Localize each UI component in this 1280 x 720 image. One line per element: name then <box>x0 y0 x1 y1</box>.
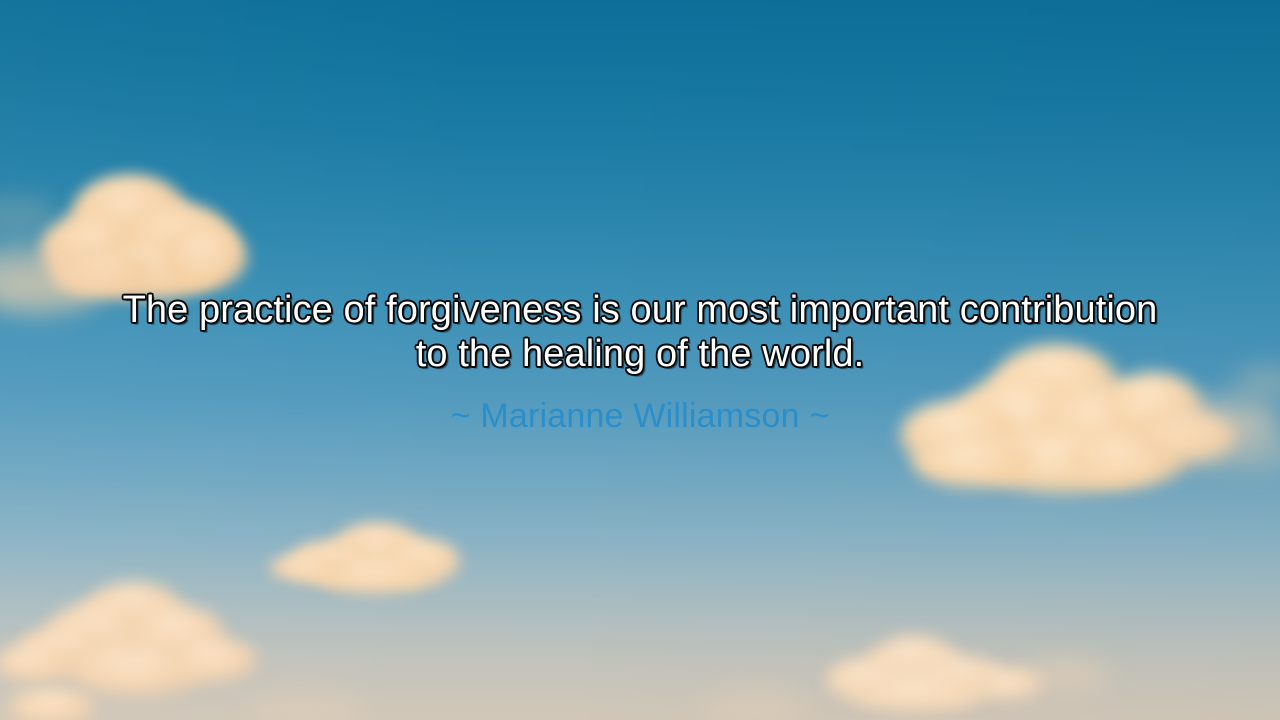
quote-line-2: to the healing of the world. <box>0 332 1280 376</box>
quote-line-1: The practice of forgiveness is our most … <box>0 288 1280 332</box>
quote-block: The practice of forgiveness is our most … <box>0 288 1280 436</box>
quote-attribution: ~ Marianne Williamson ~ <box>0 376 1280 436</box>
quote-image-canvas: The practice of forgiveness is our most … <box>0 0 1280 720</box>
